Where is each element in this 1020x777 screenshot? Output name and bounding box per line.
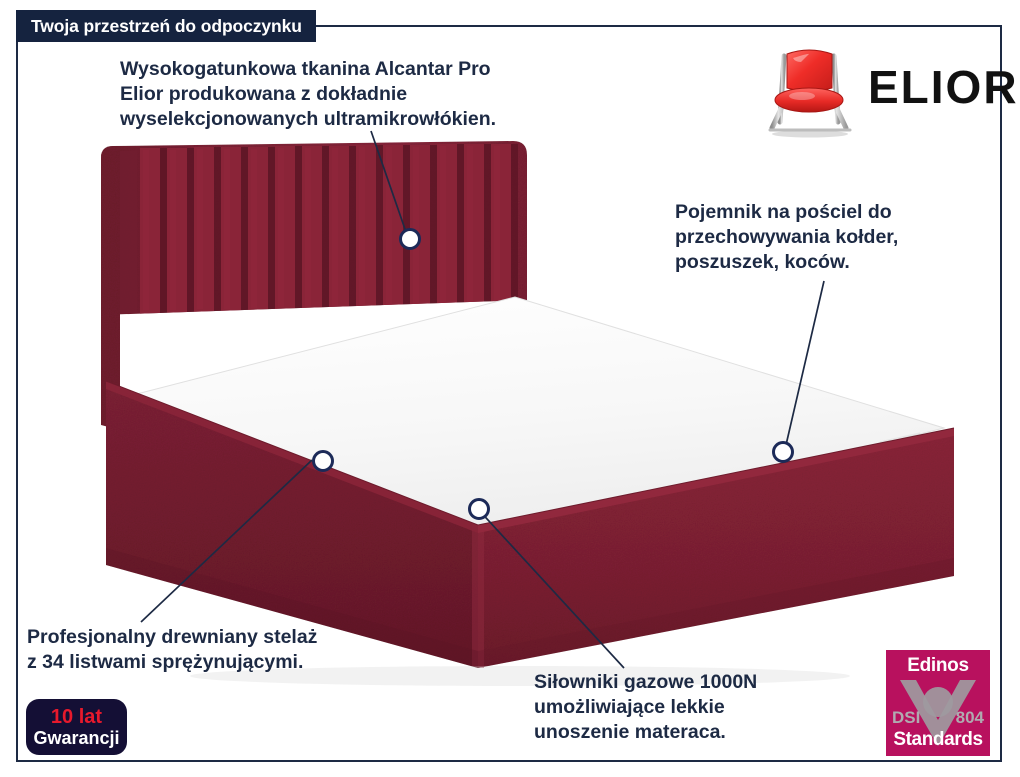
edinos-code: DSI bbox=[892, 708, 920, 728]
leader-line-slats bbox=[141, 460, 312, 622]
red-chair-icon bbox=[760, 42, 870, 142]
edinos-name: Edinos bbox=[886, 655, 990, 677]
marker-storage[interactable] bbox=[772, 441, 794, 463]
marker-gas[interactable] bbox=[468, 498, 490, 520]
leader-line-storage bbox=[786, 281, 824, 445]
brand-name: ELIOR bbox=[868, 64, 1019, 110]
warranty-label: Gwarancji bbox=[33, 728, 119, 748]
warranty-years: 10 lat bbox=[51, 707, 102, 728]
marker-fabric[interactable] bbox=[399, 228, 421, 250]
marker-slats[interactable] bbox=[312, 450, 334, 472]
edinos-number: 804 bbox=[956, 708, 984, 728]
annotation-slats: Profesjonalny drewniany stelaż z 34 list… bbox=[27, 625, 427, 675]
annotation-fabric: Wysokogatunkowa tkanina Alcantar Pro Eli… bbox=[120, 57, 600, 132]
edinos-standards: Standards bbox=[886, 729, 990, 751]
brand-logo: ELIOR bbox=[760, 42, 995, 142]
annotation-storage: Pojemnik na pościel do przechowywania ko… bbox=[675, 200, 985, 275]
infographic-root: Twoja przestrzeń do odpoczynku Wysokogat… bbox=[0, 0, 1020, 777]
leader-line-fabric bbox=[371, 131, 406, 232]
annotation-gas: Siłowniki gazowe 1000N umożliwiające lek… bbox=[534, 670, 834, 745]
warranty-badge: 10 lat Gwarancji bbox=[26, 699, 127, 755]
certification-badge: Edinos DSI 804 Standards bbox=[886, 650, 990, 756]
leader-line-gas bbox=[477, 508, 624, 668]
